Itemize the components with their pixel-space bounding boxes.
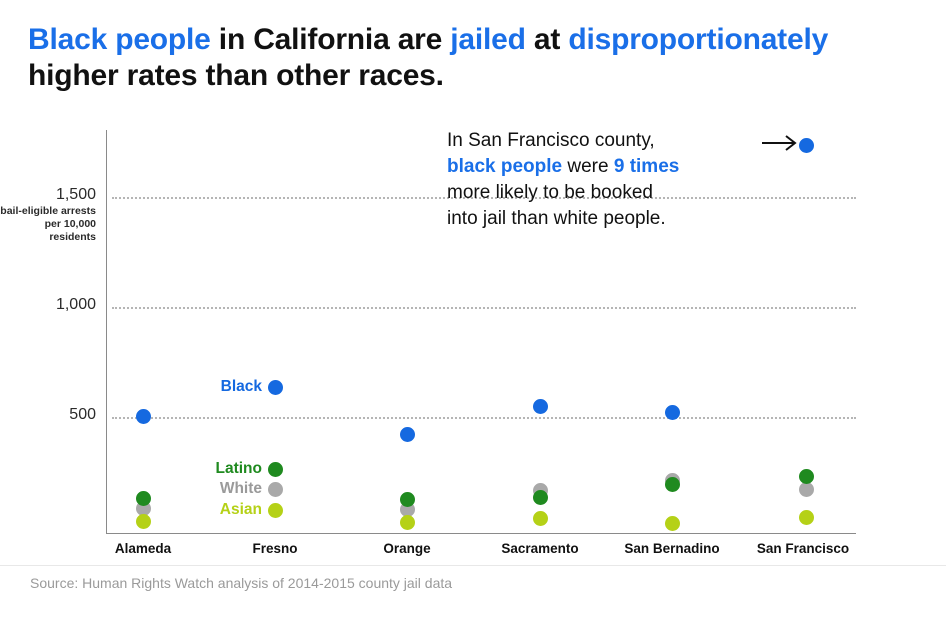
x-axis-line xyxy=(106,533,856,534)
legend-label-asian: Asian xyxy=(160,501,262,519)
legend-label-black: Black xyxy=(160,378,262,396)
y-tick-1500: 1,500 xyxy=(0,186,96,204)
x-tick-orange: Orange xyxy=(383,541,430,556)
annotation-line-1-text: In San Francisco county, xyxy=(447,130,655,151)
annotation-line-2-mid: were xyxy=(562,156,614,177)
y-tick-500: 500 xyxy=(0,406,96,424)
headline-segment-1: Black people xyxy=(28,23,211,56)
annotation-emphasis-nine-times: 9 times xyxy=(614,156,679,177)
x-tick-sacramento: Sacramento xyxy=(501,541,578,556)
annotation-emphasis-black-people: black people xyxy=(447,156,562,177)
data-point-latino-fresno xyxy=(268,462,283,477)
data-point-latino-san-francisco xyxy=(799,469,814,484)
data-point-white-fresno xyxy=(268,482,283,497)
x-tick-fresno: Fresno xyxy=(252,541,297,556)
headline-segment-6: higher rates than other races. xyxy=(28,59,444,92)
source-note: Source: Human Rights Watch analysis of 2… xyxy=(30,575,452,591)
data-point-asian-orange xyxy=(400,515,415,530)
data-point-asian-san-francisco xyxy=(799,510,814,525)
x-tick-san-bernadino: San Bernadino xyxy=(624,541,719,556)
data-point-black-san-bernadino xyxy=(665,405,680,420)
headline-segment-5: disproportionately xyxy=(568,23,828,56)
data-point-asian-fresno xyxy=(268,503,283,518)
x-tick-san-francisco: San Francisco xyxy=(757,541,849,556)
y-tick-1000: 1,000 xyxy=(0,296,96,314)
legend-label-white: White xyxy=(160,480,262,498)
data-point-black-sacramento xyxy=(533,399,548,414)
data-point-latino-orange xyxy=(400,492,415,507)
data-point-asian-san-bernadino xyxy=(665,516,680,531)
gridline-500 xyxy=(112,417,856,419)
data-point-latino-alameda xyxy=(136,491,151,506)
headline-segment-4: at xyxy=(526,23,569,56)
annotation-line-2: black people were 9 times xyxy=(447,154,787,180)
legend-label-latino: Latino xyxy=(160,460,262,478)
page-title: Black people in California are jailed at… xyxy=(28,22,918,94)
annotation-line-1: In San Francisco county, xyxy=(447,128,787,154)
data-point-asian-sacramento xyxy=(533,511,548,526)
data-point-black-alameda xyxy=(136,409,151,424)
data-point-white-san-francisco xyxy=(799,482,814,497)
annotation-line-3: more likely to be booked xyxy=(447,180,787,206)
chart-container: Black people in California are jailed at… xyxy=(0,0,946,631)
y-axis-line xyxy=(106,130,107,533)
data-point-black-orange xyxy=(400,427,415,442)
data-point-black-san-francisco xyxy=(799,138,814,153)
x-tick-alameda: Alameda xyxy=(115,541,171,556)
gridline-1000 xyxy=(112,307,856,309)
y-axis-unit-label: bail-eligible arrests per 10,000 residen… xyxy=(0,205,96,244)
headline-segment-2: in California are xyxy=(211,23,451,56)
annotation-line-4: into jail than white people. xyxy=(447,206,787,232)
data-point-latino-sacramento xyxy=(533,490,548,505)
data-point-asian-alameda xyxy=(136,514,151,529)
callout-annotation: In San Francisco county, black people we… xyxy=(447,128,787,232)
data-point-black-fresno xyxy=(268,380,283,395)
footer-divider xyxy=(0,565,946,566)
data-point-latino-san-bernadino xyxy=(665,477,680,492)
headline-segment-3: jailed xyxy=(450,23,526,56)
